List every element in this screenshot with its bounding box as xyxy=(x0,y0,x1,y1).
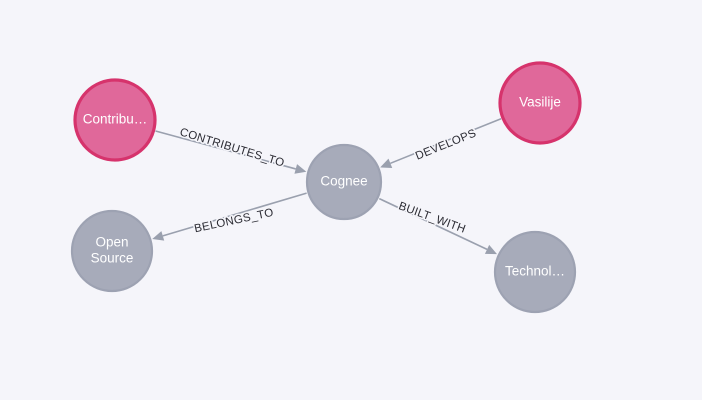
graph-node-contributor[interactable]: Contribu… xyxy=(75,80,155,160)
edge-label-belongs-to: BELONGS_TO xyxy=(193,207,274,236)
graph-canvas[interactable]: Contribu…VasilijeCogneeOpenSourceTechnol… xyxy=(0,0,702,400)
edge-arrowhead-contributes-to xyxy=(294,164,306,174)
nodes-layer: Contribu…VasilijeCogneeOpenSourceTechnol… xyxy=(72,63,580,312)
node-label-cognee: Cognee xyxy=(320,174,367,189)
edge-arrowhead-belongs-to xyxy=(152,231,164,241)
node-label-open-source: Source xyxy=(91,251,134,266)
graph-visualization[interactable]: Contribu…VasilijeCogneeOpenSourceTechnol… xyxy=(0,0,702,400)
node-label-open-source: Open xyxy=(95,235,128,250)
graph-node-open-source[interactable]: OpenSource xyxy=(72,211,152,291)
edge-label-built-with: BUILT_WITH xyxy=(397,200,467,235)
edge-label-develops: DEVELOPS xyxy=(414,127,478,162)
graph-node-cognee[interactable]: Cognee xyxy=(307,145,381,219)
graph-node-technology[interactable]: Technol… xyxy=(495,232,575,312)
node-label-vasilije: Vasilije xyxy=(519,95,561,110)
edge-label-contributes-to: CONTRIBUTES_TO xyxy=(178,126,286,169)
node-label-technology: Technol… xyxy=(505,264,565,279)
node-label-contributor: Contribu… xyxy=(83,112,148,127)
graph-node-vasilije[interactable]: Vasilije xyxy=(500,63,580,143)
